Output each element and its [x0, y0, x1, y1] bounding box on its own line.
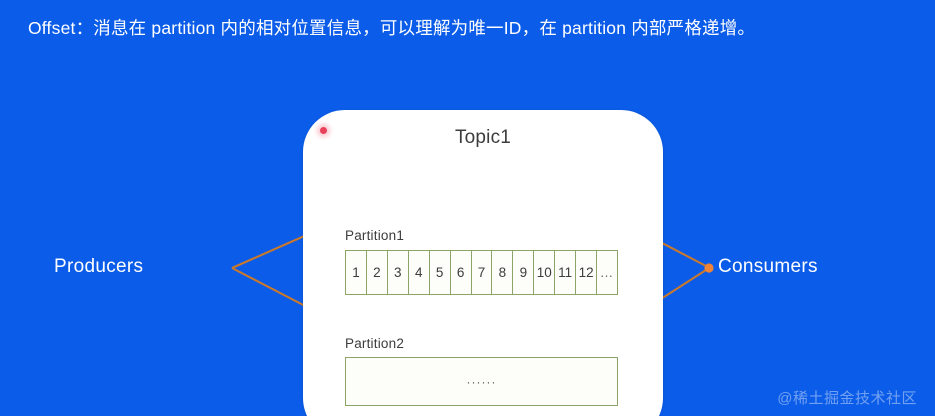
topic-card: Topic1 Partition1 1 2 3 4 5 6 7 8 9 10 1… — [303, 110, 663, 416]
partition1-cell: 7 — [472, 251, 493, 294]
partition1-cell: 2 — [367, 251, 388, 294]
partition1-cell: 11 — [555, 251, 576, 294]
partition2-content: ······ — [346, 358, 617, 405]
slide-canvas: Offset：消息在 partition 内的相对位置信息，可以理解为唯一ID，… — [0, 0, 935, 416]
partition2-label: Partition2 — [345, 336, 404, 351]
consumers-label: Consumers — [718, 256, 818, 278]
partition1-cell: 3 — [388, 251, 409, 294]
partition1-box: 1 2 3 4 5 6 7 8 9 10 11 12 … — [345, 250, 618, 295]
partition1-cell-overflow: … — [597, 251, 617, 294]
consumer-junction-dot — [704, 263, 713, 272]
partition1-cell: 12 — [576, 251, 597, 294]
partition1-cell: 6 — [451, 251, 472, 294]
kafka-topic-diagram: Producers Consumers Topic1 Partition1 1 … — [0, 56, 935, 416]
partition1-cell: 4 — [409, 251, 430, 294]
partition1-cell: 8 — [492, 251, 513, 294]
watermark: @稀土掘金技术社区 — [777, 387, 917, 408]
partition1-cell: 1 — [346, 251, 367, 294]
topic-title: Topic1 — [303, 127, 663, 149]
caption-text: Offset：消息在 partition 内的相对位置信息，可以理解为唯一ID，… — [28, 13, 918, 43]
partition1-cell: 5 — [430, 251, 451, 294]
partition1-label: Partition1 — [345, 228, 404, 243]
producers-label: Producers — [54, 256, 143, 278]
partition1-cell: 10 — [534, 251, 555, 294]
partition2-box: ······ — [345, 357, 618, 406]
partition1-cell: 9 — [513, 251, 534, 294]
